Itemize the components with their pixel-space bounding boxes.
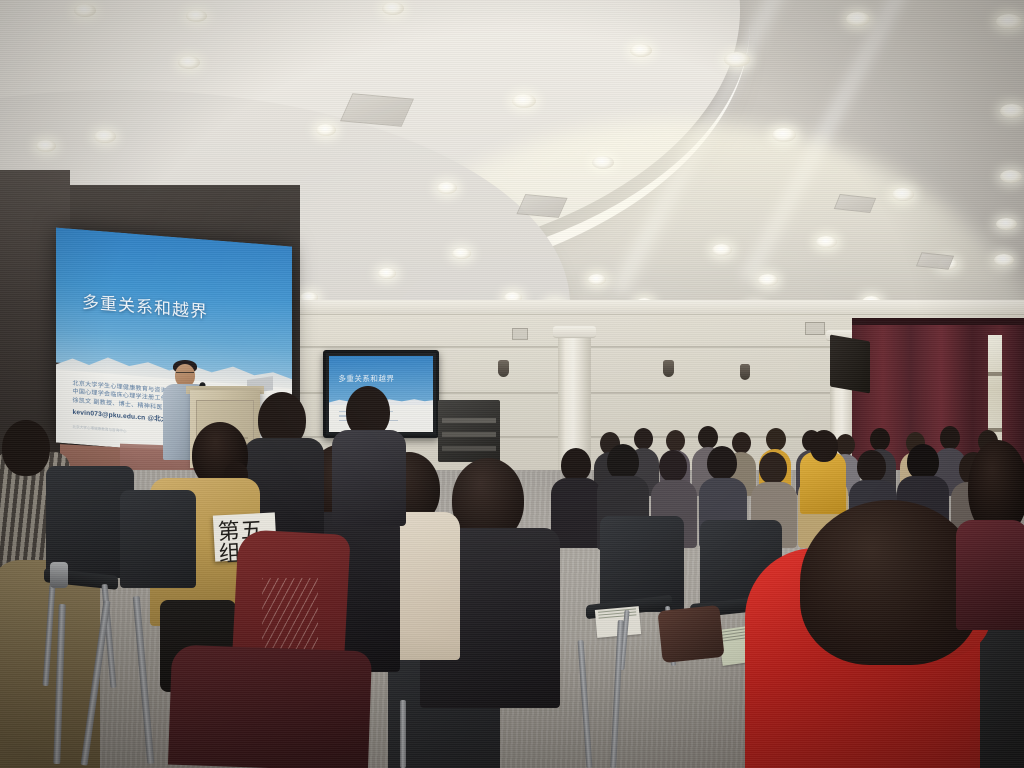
audience-head [810, 430, 838, 462]
audience-head [759, 452, 787, 484]
downlight [846, 12, 870, 26]
downlight [512, 94, 536, 108]
downlight [1000, 104, 1024, 118]
audience-head [607, 444, 639, 480]
wall-plaque [512, 328, 528, 340]
downlight [378, 268, 396, 279]
downlight [996, 218, 1017, 230]
av-equipment-rack [438, 400, 500, 462]
lecture-hall-photo: 多重关系和越界 北京大学学生心理健康教育与咨询中心 中国心理学会临床心理学注册工… [0, 0, 1024, 768]
downlight [996, 14, 1022, 29]
wall-plaque [805, 322, 825, 335]
tablet-arm-chair [120, 490, 196, 588]
wall-crown-moulding [210, 300, 1024, 315]
handbag [657, 605, 724, 663]
downlight [94, 130, 116, 143]
audience-head [659, 450, 687, 482]
wall-sconce [740, 364, 750, 380]
foreground-chair-backrest [168, 645, 372, 768]
downlight [178, 56, 200, 69]
downlight [630, 44, 652, 57]
audience-torso [332, 430, 406, 526]
downlight [316, 124, 336, 136]
chair-leg [400, 700, 406, 768]
audience-head [907, 444, 939, 480]
chair-height-adjuster [50, 562, 68, 588]
downlight [437, 182, 457, 194]
audience-head [857, 450, 886, 483]
downlight [772, 128, 796, 142]
ceiling-air-vent [340, 93, 414, 127]
foreground-person-hair [800, 500, 980, 665]
downlight [36, 140, 56, 152]
wall-sconce [498, 360, 509, 377]
speaker-glasses [176, 372, 194, 377]
downlight [1000, 170, 1022, 183]
downlight [994, 254, 1014, 266]
downlight [758, 274, 778, 286]
downlight [592, 156, 614, 169]
downlight [186, 10, 207, 22]
downlight [724, 52, 750, 67]
downlight [588, 274, 606, 285]
downlight [382, 2, 404, 15]
downlight [712, 244, 732, 256]
wall-speaker [830, 334, 870, 393]
audience-head [561, 448, 591, 482]
audience-head [707, 446, 737, 480]
downlight [452, 248, 471, 259]
window-mullion [988, 372, 1002, 376]
av-rack-shelf [442, 432, 496, 437]
ceiling-air-vent [516, 194, 567, 218]
downlight [74, 4, 96, 17]
audience-torso [956, 520, 1024, 630]
tv-slide-title: 多重关系和越界 [338, 373, 394, 384]
downlight [816, 236, 837, 248]
audience-head [2, 420, 50, 476]
column-capital [553, 326, 596, 338]
av-rack-shelf [442, 446, 496, 451]
downlight [892, 188, 914, 201]
wall-sconce [663, 360, 674, 377]
av-rack-shelf [442, 418, 496, 423]
